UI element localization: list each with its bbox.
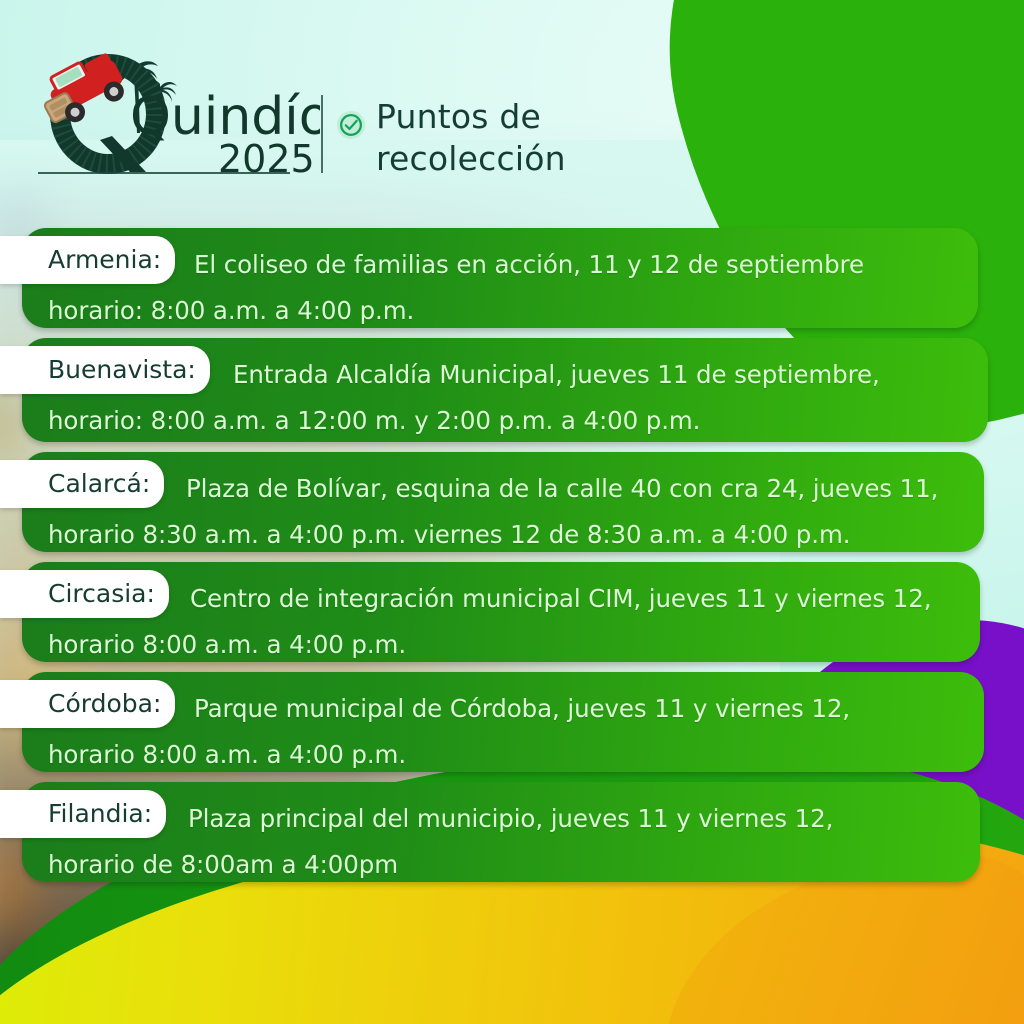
city-label: Buenavista: — [0, 346, 210, 394]
logo-underline — [38, 172, 290, 174]
collection-points-list: Armenia: El coliseo de familias en acció… — [0, 228, 1024, 892]
list-item[interactable]: Filandia: Plaza principal del municipio,… — [22, 782, 980, 882]
city-label: Filandia: — [0, 790, 166, 838]
list-item[interactable]: Córdoba: Parque municipal de Córdoba, ju… — [22, 672, 984, 772]
list-item[interactable]: Buenavista: Entrada Alcaldía Municipal, … — [22, 338, 988, 442]
city-label: Circasia: — [0, 570, 169, 618]
quindio-logo: Quindío 2025 — [34, 32, 314, 177]
point-detail: Centro de integración municipal CIM, jue… — [48, 576, 958, 668]
logo-wordmark: Quindío 2025 — [130, 84, 320, 176]
header-divider — [321, 95, 323, 173]
city-label: Armenia: — [0, 236, 175, 284]
poster-canvas: Quindío 2025 Puntos de recolección Armen… — [0, 0, 1024, 1024]
list-item[interactable]: Armenia: El coliseo de familias en acció… — [22, 228, 978, 328]
city-label: Córdoba: — [0, 680, 175, 728]
point-detail: Parque municipal de Córdoba, jueves 11 y… — [48, 686, 962, 778]
check-circle-icon — [336, 110, 366, 140]
poster-header: Quindío 2025 Puntos de recolección — [0, 0, 1024, 215]
point-detail: Plaza principal del municipio, jueves 11… — [48, 796, 958, 888]
logo-year-text: 2025 — [218, 137, 315, 176]
list-item[interactable]: Calarcá: Plaza de Bolívar, esquina de la… — [22, 452, 984, 552]
city-label: Calarcá: — [0, 460, 164, 508]
page-title: Puntos de recolección — [376, 96, 796, 180]
list-item[interactable]: Circasia: Centro de integración municipa… — [22, 562, 980, 662]
point-detail: Plaza de Bolívar, esquina de la calle 40… — [48, 466, 962, 558]
point-detail: El coliseo de familias en acción, 11 y 1… — [48, 242, 956, 334]
